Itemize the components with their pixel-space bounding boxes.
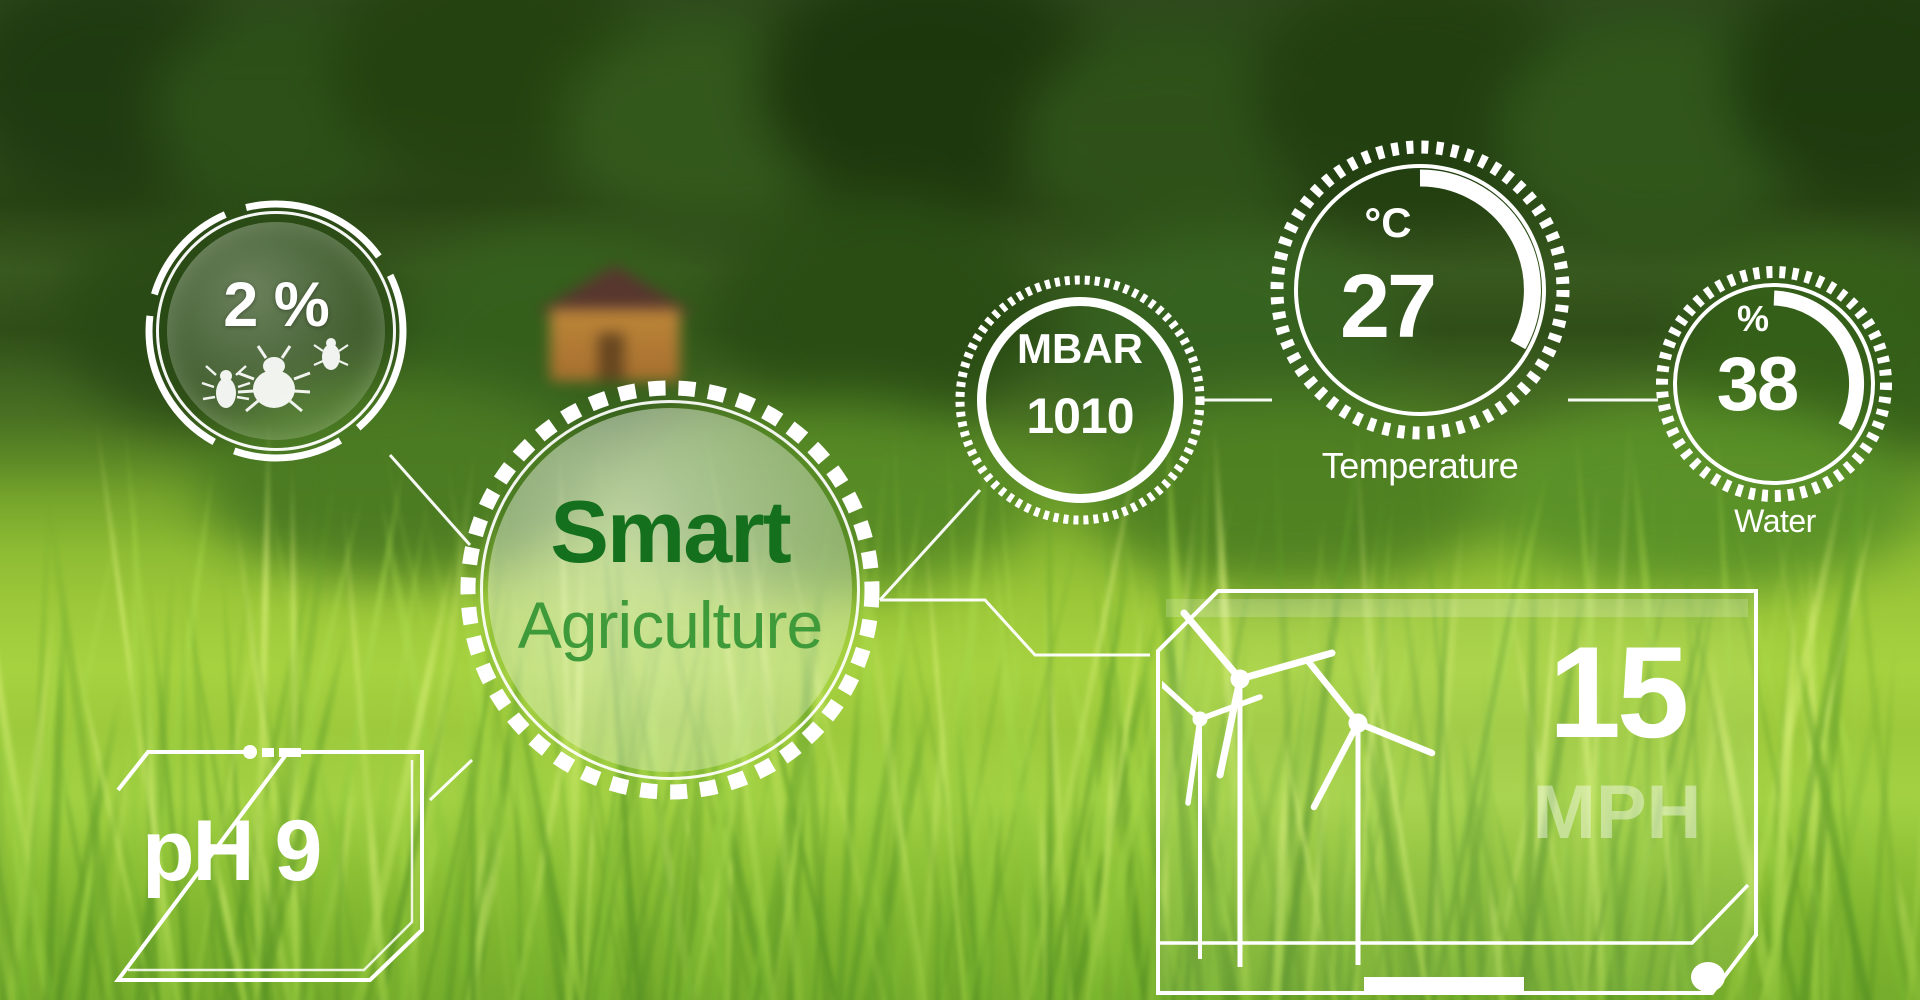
- temperature-unit-label: °C: [1328, 202, 1448, 244]
- smart-agriculture-core[interactable]: Smart Agriculture: [460, 380, 880, 800]
- water-caption: Water: [1630, 503, 1920, 540]
- insects-icon: [188, 335, 368, 413]
- pest-value: 2 %: [140, 269, 412, 341]
- pest-gauge-widget[interactable]: 2 %: [140, 195, 412, 467]
- ph-panel-widget[interactable]: pH 9: [112, 740, 434, 990]
- temperature-caption: Temperature: [1250, 445, 1590, 487]
- wind-unit-label: MPH: [1497, 775, 1737, 851]
- water-gauge-widget[interactable]: % 38 Water: [1655, 265, 1893, 503]
- pressure-gauge-widget[interactable]: MBAR 1010: [955, 275, 1205, 525]
- core-title: Smart: [460, 488, 880, 576]
- water-unit-label: %: [1703, 301, 1803, 337]
- wind-value: 15: [1502, 627, 1732, 757]
- hud-overlay: 2 % MBAR 1: [0, 0, 1920, 1000]
- pressure-value: 1010: [955, 387, 1205, 445]
- core-subtitle: Agriculture: [460, 592, 880, 658]
- wind-turbine-icon: [1162, 607, 1492, 987]
- temperature-gauge-widget[interactable]: °C 27 Temperature: [1270, 140, 1570, 440]
- water-value: 38: [1673, 347, 1841, 423]
- ph-value: pH 9: [142, 802, 422, 901]
- wind-panel-widget[interactable]: 15 MPH: [1152, 585, 1762, 1000]
- temperature-value: 27: [1292, 262, 1482, 352]
- pressure-unit-label: MBAR: [955, 325, 1205, 373]
